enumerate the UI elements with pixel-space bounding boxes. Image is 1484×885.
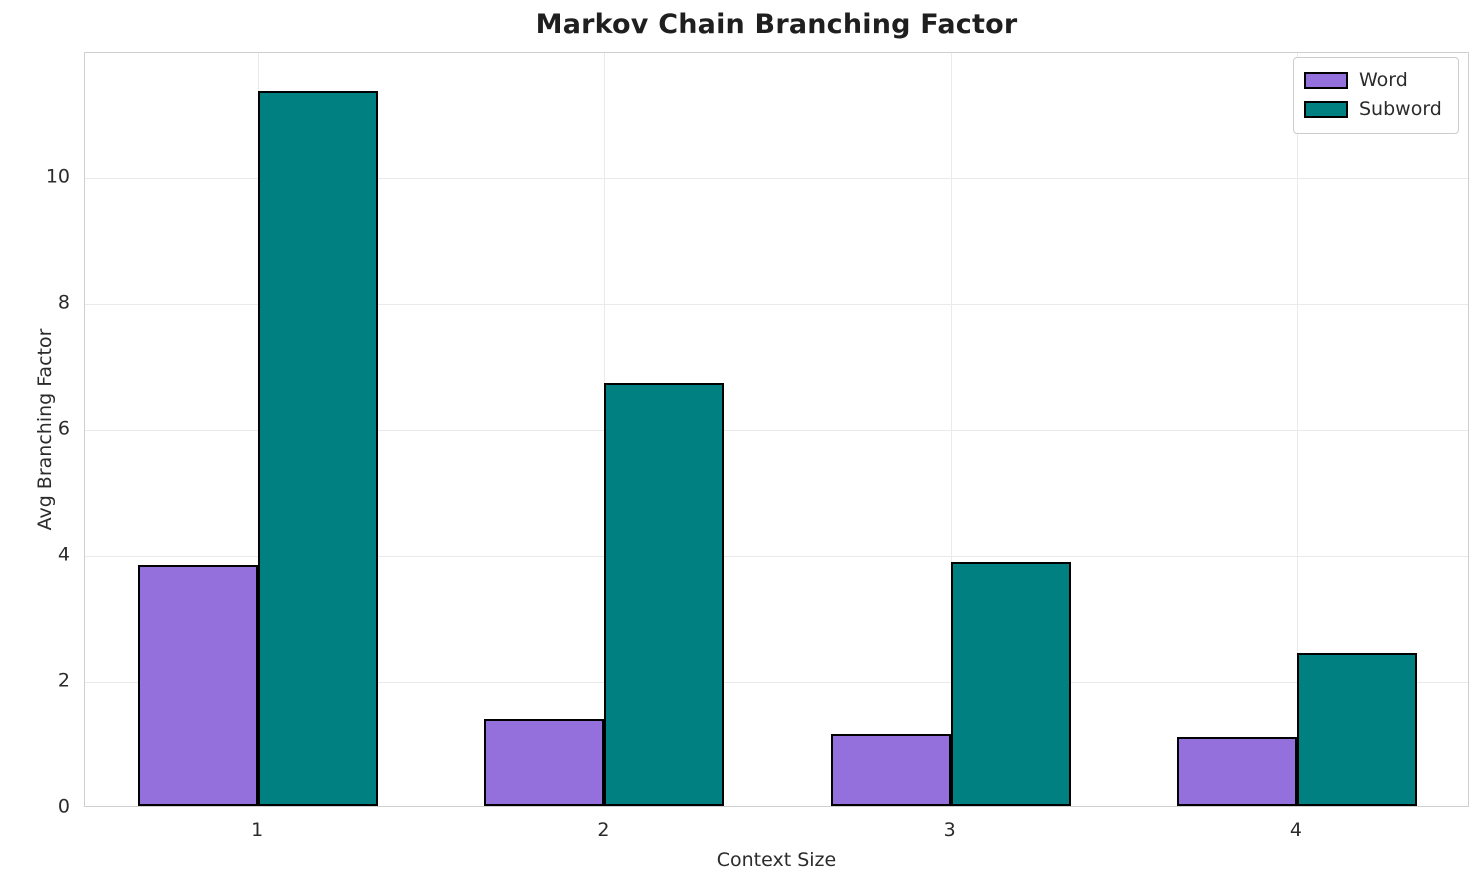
bar-word-1 — [138, 565, 258, 806]
plot-area — [84, 52, 1469, 807]
legend-item-subword[interactable]: Subword — [1304, 95, 1448, 124]
x-axis-label: Context Size — [84, 848, 1469, 872]
legend-swatch-word — [1304, 72, 1348, 89]
legend-swatch-subword — [1304, 101, 1348, 118]
x-tick-label: 1 — [217, 818, 297, 842]
legend: WordSubword — [1293, 57, 1459, 134]
legend-label: Subword — [1359, 99, 1442, 120]
bar-subword-3 — [951, 562, 1071, 806]
bar-subword-2 — [604, 383, 724, 807]
bar-subword-4 — [1297, 653, 1417, 806]
y-axis-label: Avg Branching Factor — [30, 52, 60, 807]
chart-title: Markov Chain Branching Factor — [84, 8, 1469, 42]
bar-subword-1 — [258, 91, 378, 806]
legend-label: Word — [1359, 70, 1408, 91]
x-tick-label: 2 — [563, 818, 643, 842]
x-tick-label: 3 — [910, 818, 990, 842]
x-tick-label: 4 — [1256, 818, 1336, 842]
legend-item-word[interactable]: Word — [1304, 66, 1448, 95]
bar-word-4 — [1177, 737, 1297, 806]
bar-word-3 — [831, 734, 951, 806]
chart-figure: Markov Chain Branching Factor 0246810 Av… — [0, 0, 1484, 885]
bar-word-2 — [484, 719, 604, 806]
